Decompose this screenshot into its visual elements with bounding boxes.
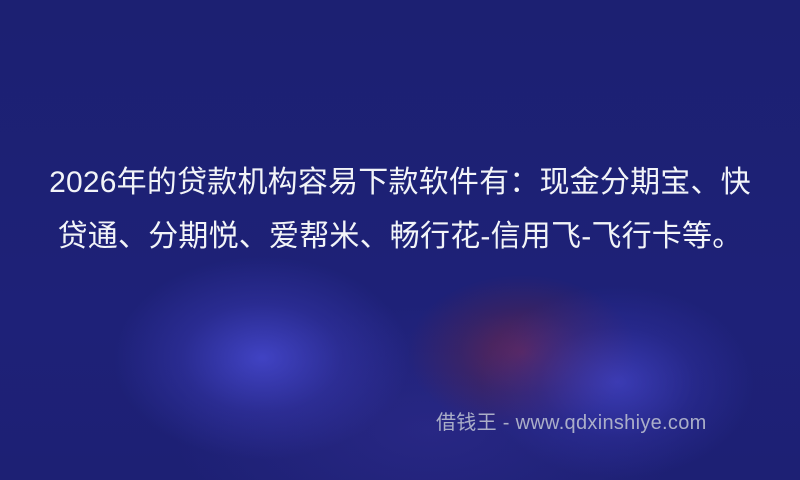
page-title: 2026年的贷款机构容易下款软件有：现金分期宝、快贷通、分期悦、爱帮米、畅行花-… [48, 156, 752, 264]
promo-banner: 2026年的贷款机构容易下款软件有：现金分期宝、快贷通、分期悦、爱帮米、畅行花-… [0, 0, 800, 480]
site-watermark: 借钱王 - www.qdxinshiye.com [436, 406, 707, 435]
